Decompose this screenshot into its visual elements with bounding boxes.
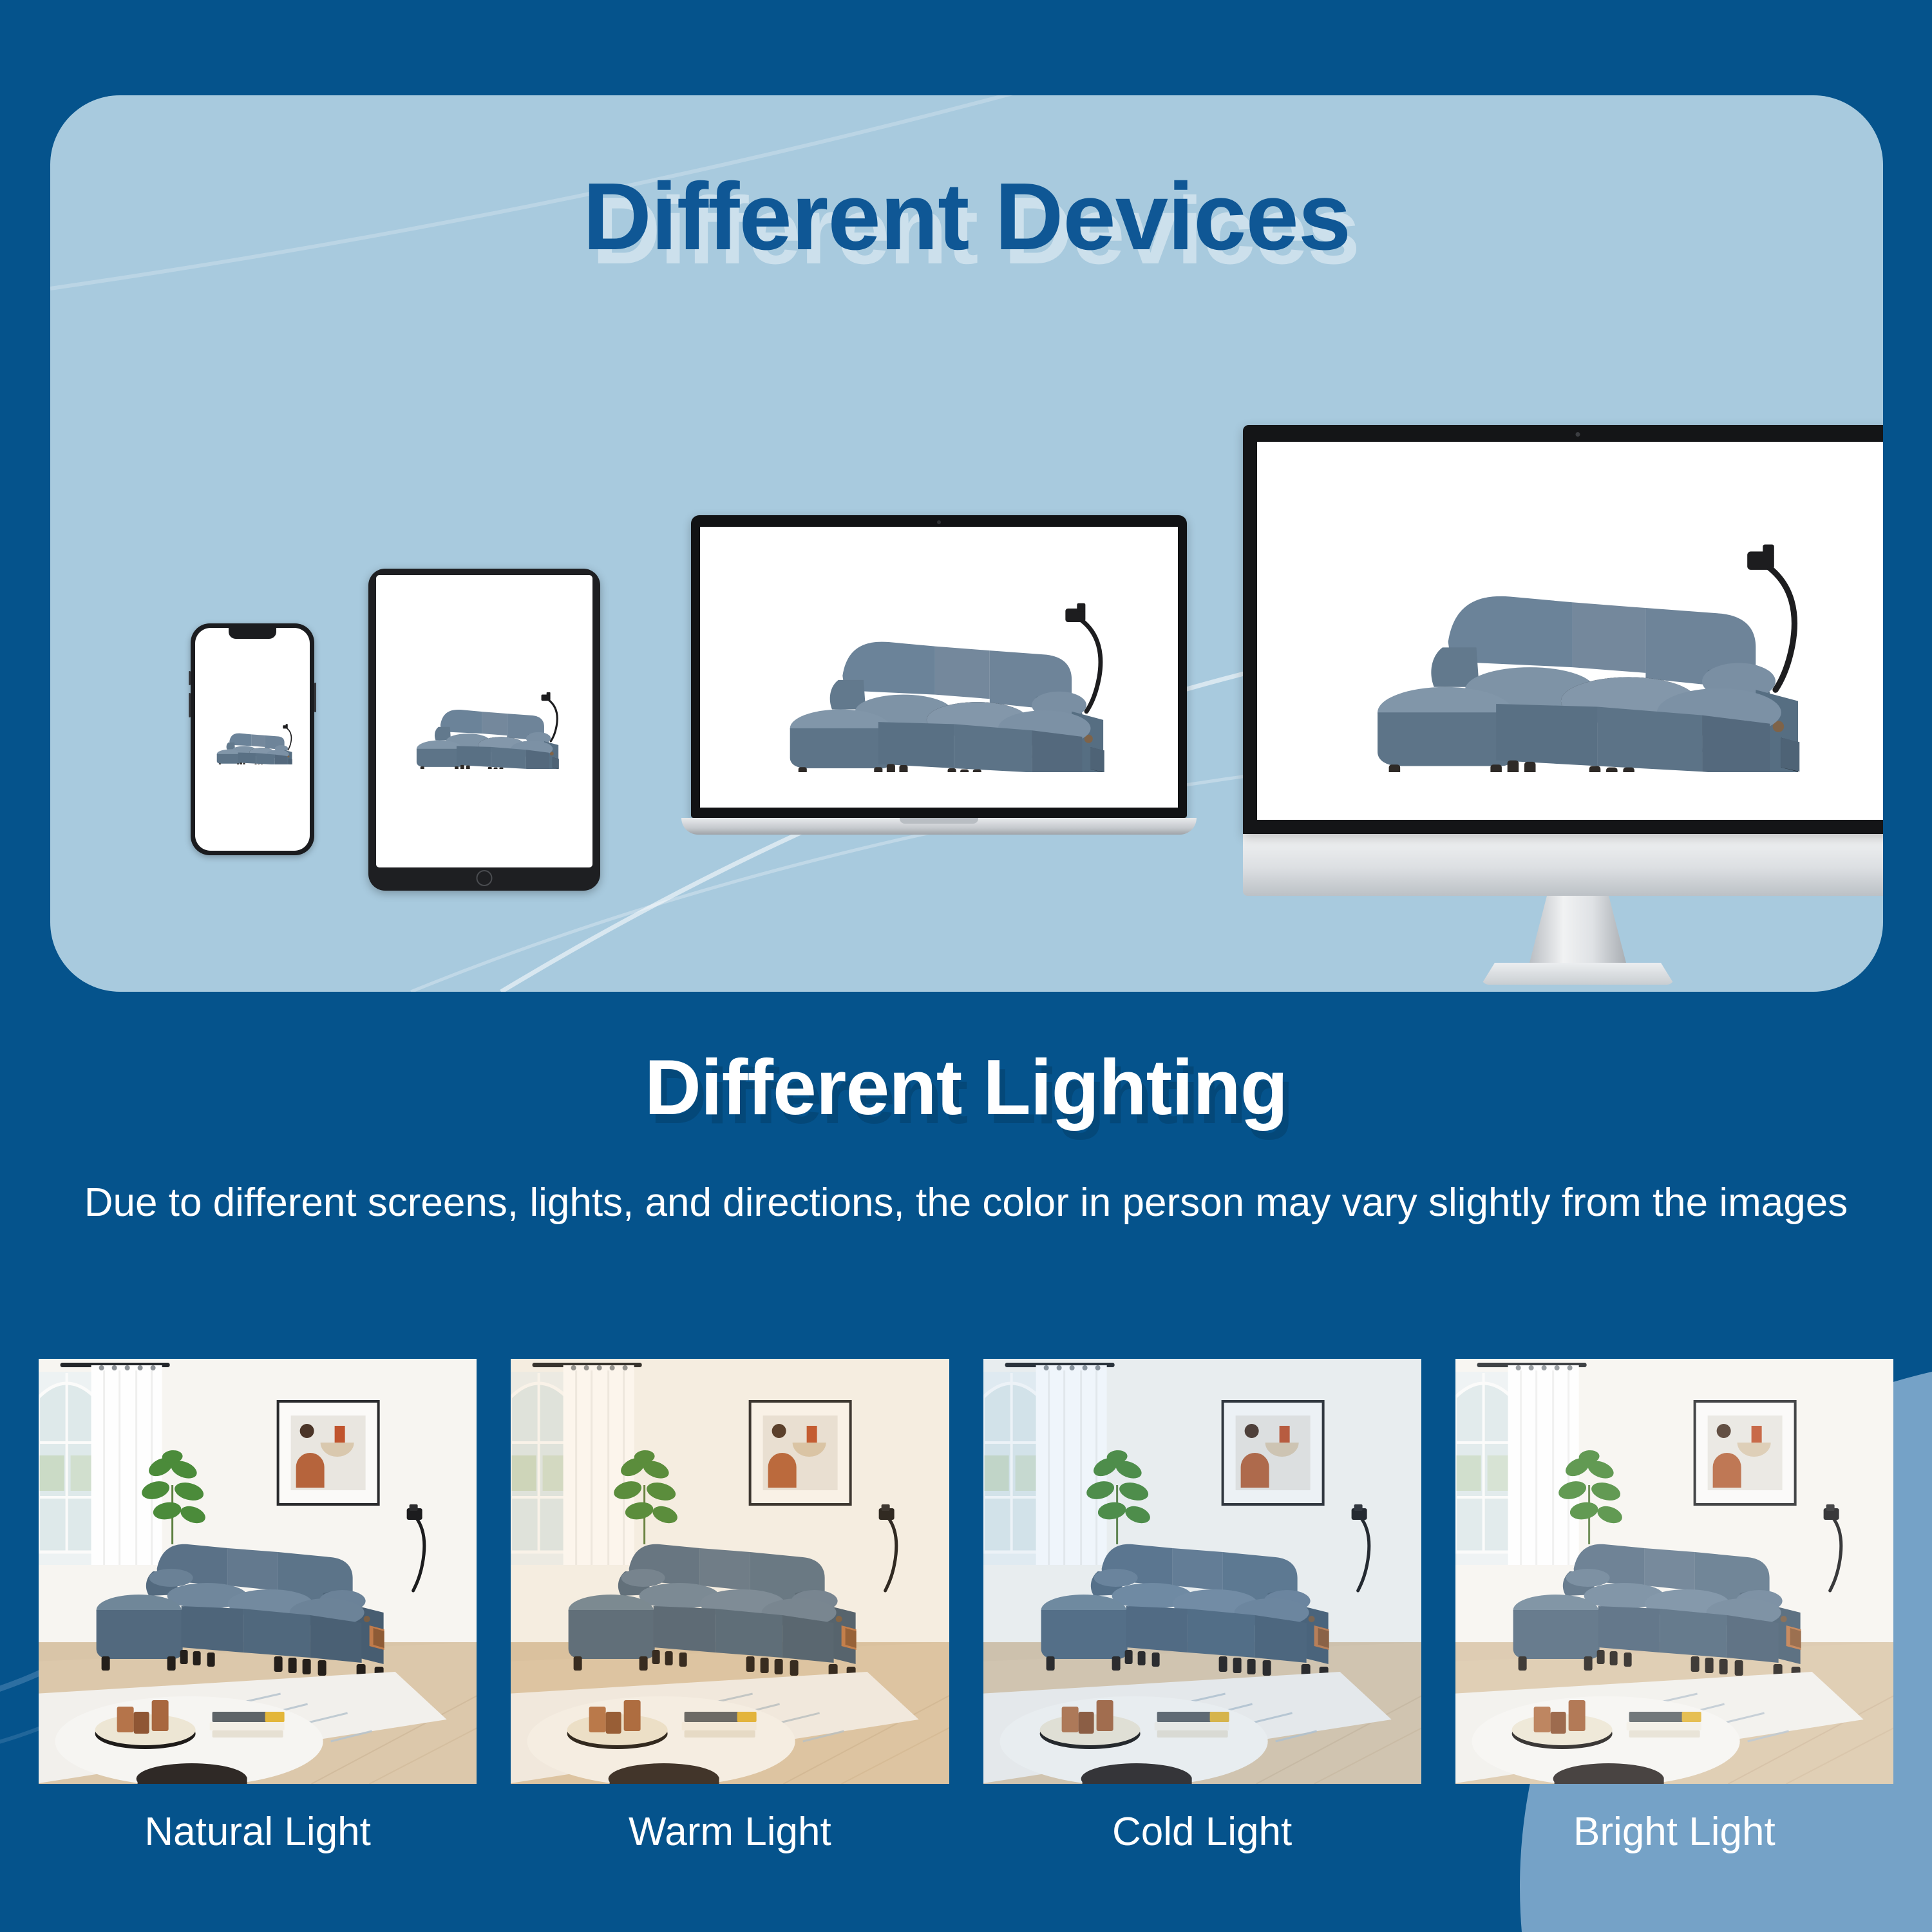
laptop-trackpad-notch — [900, 818, 978, 824]
label-bright-light: Bright Light — [1455, 1797, 1893, 1868]
laptop-camera-icon — [937, 520, 941, 524]
monitor-camera-icon — [1576, 432, 1580, 437]
phone-sofa-image — [195, 628, 310, 851]
laptop-base — [681, 818, 1197, 835]
device-monitor — [1243, 425, 1883, 960]
lighting-title: Different Lighting — [0, 1042, 1932, 1132]
monitor-chin — [1243, 834, 1883, 896]
laptop-sofa-image — [700, 527, 1178, 808]
phone-screen — [195, 628, 310, 851]
tablet-sofa-image — [376, 575, 592, 867]
laptop-screen — [700, 527, 1178, 808]
label-warm-light: Warm Light — [511, 1797, 949, 1868]
tablet-screen — [376, 575, 592, 867]
phone-power-button — [314, 683, 316, 712]
label-natural-light: Natural Light — [39, 1797, 477, 1868]
lighting-subtitle: Due to different screens, lights, and di… — [55, 1177, 1877, 1228]
scene-natural-light — [39, 1359, 477, 1784]
different-devices-panel: Different Devices — [50, 95, 1883, 992]
device-mockups-row — [50, 398, 1883, 965]
scene-warm-light — [511, 1359, 949, 1784]
scene-bright-light — [1455, 1359, 1893, 1784]
device-tablet — [368, 569, 600, 891]
tablet-home-button — [477, 870, 493, 886]
phone-volume-down-button — [189, 693, 191, 717]
devices-title: Different Devices — [50, 162, 1883, 272]
lighting-scene-gallery — [39, 1359, 1893, 1784]
label-cold-light: Cold Light — [983, 1797, 1421, 1868]
monitor-stand-foot — [1481, 963, 1674, 985]
device-phone — [191, 623, 314, 855]
scene-cold-light — [983, 1359, 1421, 1784]
monitor-screen — [1257, 442, 1883, 820]
phone-volume-up-button — [189, 671, 191, 685]
laptop-lid — [691, 515, 1187, 818]
monitor-stand-neck — [1529, 896, 1626, 963]
monitor-bezel — [1243, 425, 1883, 834]
device-laptop — [681, 515, 1197, 876]
monitor-sofa-image — [1257, 442, 1883, 820]
lighting-labels-row: Natural Light Warm Light Cold Light Brig… — [39, 1797, 1893, 1868]
